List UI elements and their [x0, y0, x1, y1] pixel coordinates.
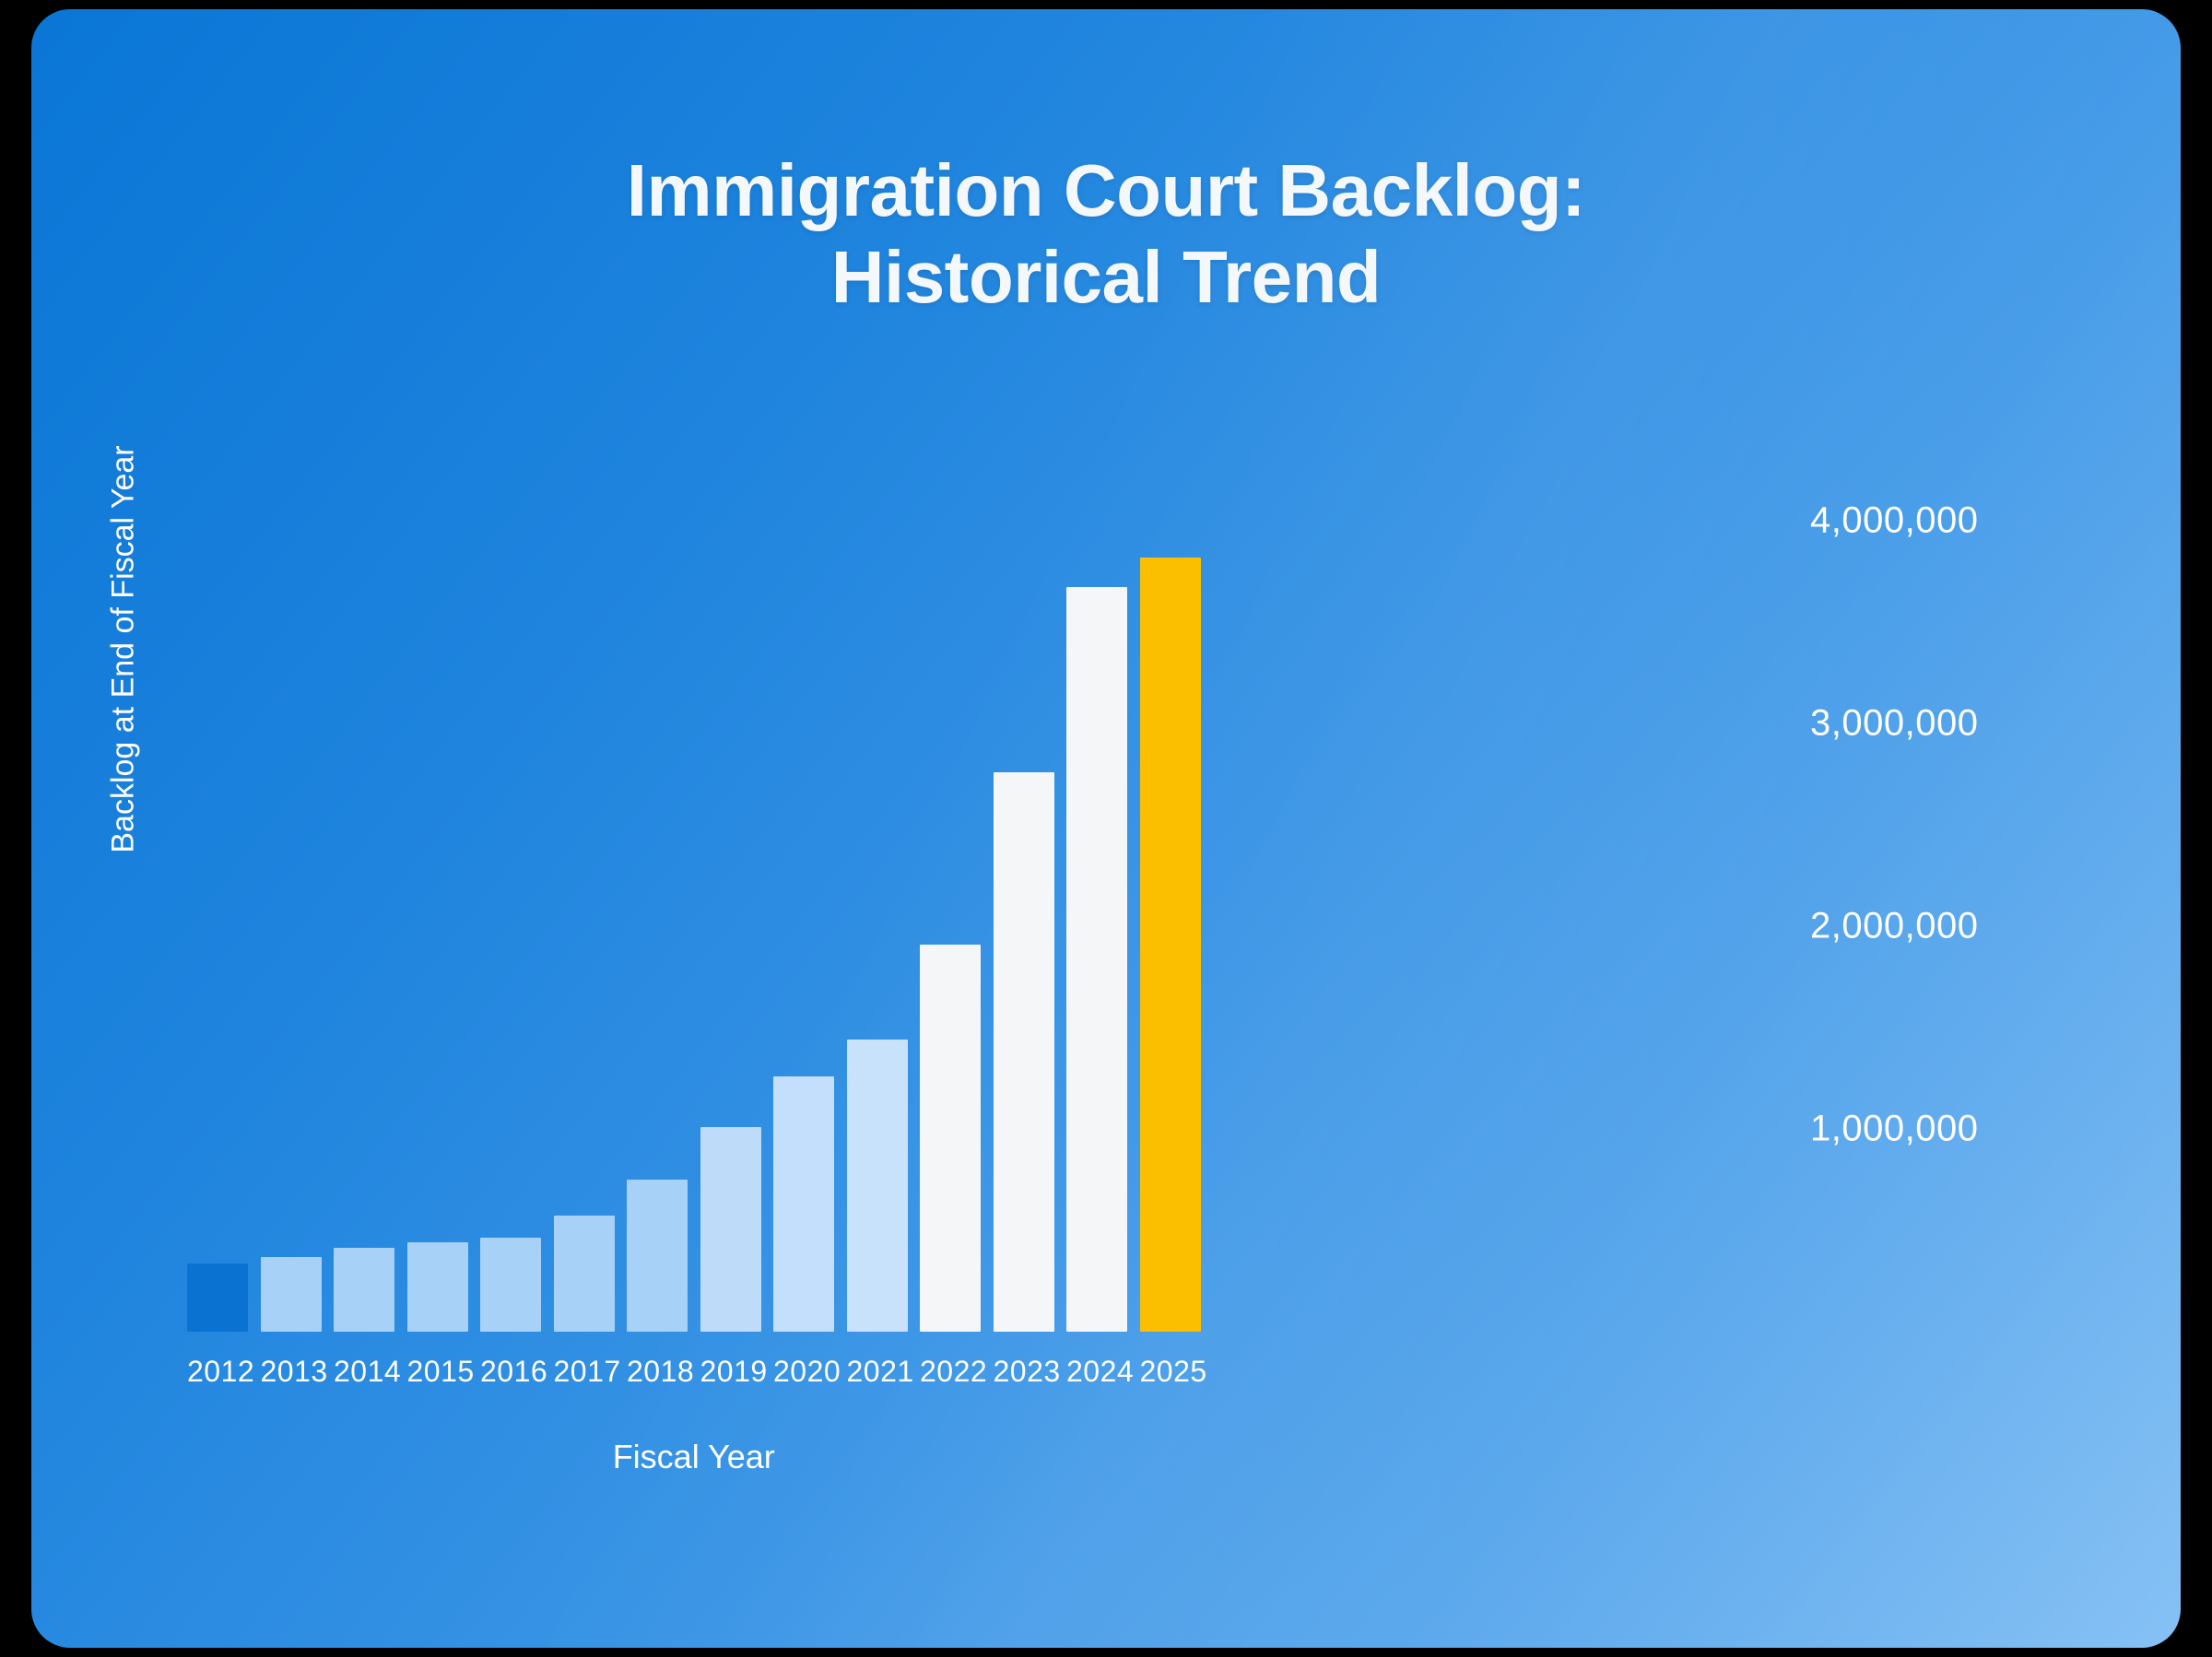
slide-root: Immigration Court Backlog: Historical Tr…: [0, 0, 2212, 1657]
bar-2019[interactable]: [700, 1127, 761, 1332]
title-line-2: Historical Trend: [31, 234, 2181, 321]
y-tick-label-3000000: 3,000,000: [1810, 703, 2114, 745]
x-tick-label-2022: 2022: [920, 1355, 981, 1389]
y-tick-label-1000000: 1,000,000: [1810, 1109, 2114, 1150]
x-tick-label-2015: 2015: [407, 1355, 468, 1389]
bar-2015[interactable]: [407, 1242, 468, 1332]
x-axis-title: Fiscal Year: [187, 1438, 1201, 1476]
x-tick-label-2025: 2025: [1140, 1355, 1201, 1389]
bar-2023[interactable]: [994, 772, 1054, 1332]
x-tick-label-2019: 2019: [700, 1355, 761, 1389]
bar-2014[interactable]: [334, 1248, 394, 1332]
bar-2012[interactable]: [187, 1263, 248, 1332]
bar-2022[interactable]: [920, 945, 981, 1332]
bar-2016[interactable]: [480, 1238, 541, 1332]
x-tick-label-2014: 2014: [334, 1355, 394, 1389]
bar-2021[interactable]: [847, 1040, 908, 1332]
bar-2013[interactable]: [261, 1257, 322, 1332]
bar-2017[interactable]: [554, 1216, 615, 1332]
x-tick-label-2013: 2013: [261, 1355, 322, 1389]
title-line-1: Immigration Court Backlog:: [627, 149, 1585, 231]
y-axis-title: Backlog at End of Fiscal Year: [106, 410, 142, 889]
page-title: Immigration Court Backlog: Historical Tr…: [31, 147, 2181, 322]
y-tick-label-4000000: 4,000,000: [1810, 500, 2114, 542]
bar-2020[interactable]: [773, 1076, 834, 1332]
bar-2024[interactable]: [1066, 587, 1127, 1332]
x-tick-label-2012: 2012: [187, 1355, 248, 1389]
x-tick-label-2023: 2023: [994, 1355, 1054, 1389]
x-tick-label-2020: 2020: [773, 1355, 834, 1389]
x-tick-label-2018: 2018: [627, 1355, 688, 1389]
x-tick-label-2021: 2021: [847, 1355, 908, 1389]
bar-2025[interactable]: [1140, 558, 1201, 1332]
x-tick-label-2016: 2016: [480, 1355, 541, 1389]
y-tick-label-2000000: 2,000,000: [1810, 906, 2114, 947]
bar-2018[interactable]: [627, 1180, 688, 1332]
chart-card: Immigration Court Backlog: Historical Tr…: [31, 9, 2181, 1648]
x-tick-label-2017: 2017: [554, 1355, 615, 1389]
x-tick-label-2024: 2024: [1066, 1355, 1127, 1389]
